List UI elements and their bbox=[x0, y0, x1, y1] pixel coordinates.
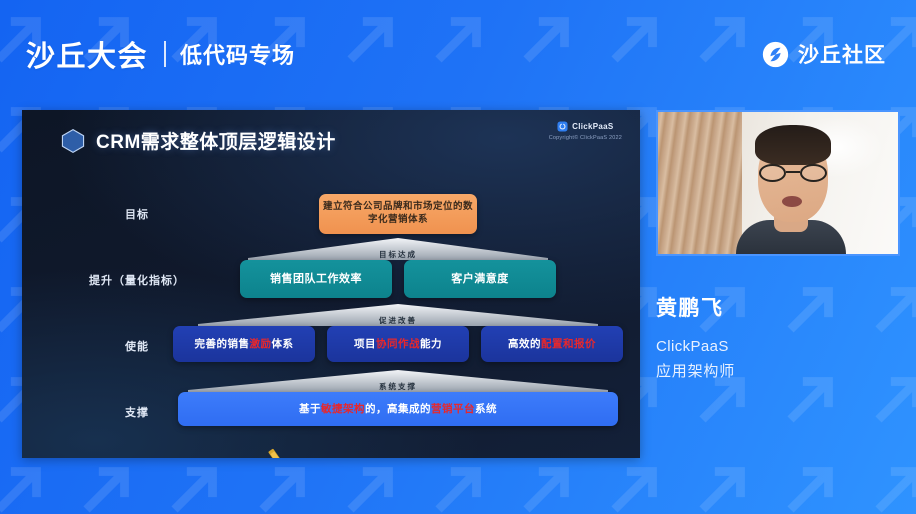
diagram-box[interactable]: 建立符合公司品牌和市场定位的数字化营销体系 bbox=[319, 194, 477, 234]
diagonal-arrow-icon bbox=[870, 456, 916, 514]
webcam-mouth bbox=[782, 196, 802, 207]
glasses-bridge bbox=[786, 171, 800, 173]
diagram-box[interactable]: 完善的销售激励体系 bbox=[173, 326, 315, 362]
webcam-hair bbox=[755, 125, 831, 165]
slide-title: CRM需求整体顶层逻辑设计 bbox=[96, 127, 336, 154]
box-highlight: 敏捷架构 bbox=[321, 402, 365, 416]
speaker-webcam[interactable] bbox=[656, 110, 900, 256]
page-background: 沙丘大会 低代码专场 沙丘社区 CRM需求整体顶层逻辑设计 bbox=[0, 0, 916, 514]
glasses-icon bbox=[758, 164, 828, 182]
diagonal-arrow-icon bbox=[78, 456, 140, 514]
pencil-highlighter-icon bbox=[265, 447, 287, 458]
diagram-row-boxes: 基于敏捷架构的，高集成的营销平台系统 bbox=[172, 392, 624, 426]
diagram-box[interactable]: 高效的配置和报价 bbox=[481, 326, 623, 362]
box-text: 的，高集成的 bbox=[365, 402, 431, 416]
diagonal-arrow-icon bbox=[606, 456, 668, 514]
diagonal-arrow-icon bbox=[254, 456, 316, 514]
community-logo[interactable]: 沙丘社区 bbox=[762, 39, 886, 69]
diagonal-arrow-icon bbox=[782, 456, 844, 514]
sandhill-s-logo-icon bbox=[762, 41, 789, 68]
box-highlight: 配置和报价 bbox=[541, 337, 596, 351]
brand-divider bbox=[164, 41, 166, 67]
slide-title-row: CRM需求整体顶层逻辑设计 bbox=[60, 127, 336, 154]
diagram-box[interactable]: 基于敏捷架构的，高集成的营销平台系统 bbox=[178, 392, 618, 426]
diagram-box[interactable]: 销售团队工作效率 bbox=[240, 260, 392, 298]
box-text: 项目 bbox=[354, 337, 376, 351]
diagonal-arrow-icon bbox=[518, 456, 580, 514]
box-text: 能力 bbox=[420, 337, 442, 351]
crm-logic-diagram: 目标建立符合公司品牌和市场定位的数字化营销体系目标达成提升（量化指标）销售团队工… bbox=[22, 172, 640, 458]
speaker-organization: ClickPaaS bbox=[656, 338, 900, 355]
hexagon-icon bbox=[60, 128, 86, 154]
event-brand: 沙丘大会 低代码专场 bbox=[26, 33, 295, 75]
webcam-blinds bbox=[658, 112, 742, 256]
box-text: 体系 bbox=[272, 337, 294, 351]
clickpaas-copyright: Copyright© ClickPaaS 2022 bbox=[549, 135, 622, 141]
diagram-row-boxes: 完善的销售激励体系项目协同作战能力高效的配置和报价 bbox=[172, 326, 624, 362]
diagonal-arrow-icon bbox=[342, 456, 404, 514]
event-subtitle: 低代码专场 bbox=[180, 38, 295, 70]
speaker-panel: 黄鹏飞 ClickPaaS 应用架构师 bbox=[656, 110, 900, 381]
diagram-connector: 促进改善 bbox=[198, 304, 598, 326]
diagonal-arrow-icon bbox=[430, 456, 492, 514]
diagonal-arrow-icon bbox=[0, 456, 52, 514]
clickpaas-watermark: ClickPaaS Copyright© ClickPaaS 2022 bbox=[549, 121, 622, 141]
diagram-connector-label: 促进改善 bbox=[198, 315, 598, 326]
box-text: 系统 bbox=[475, 402, 497, 416]
speaker-role: 应用架构师 bbox=[656, 360, 900, 381]
box-highlight: 激励 bbox=[250, 337, 272, 351]
box-text: 高效的 bbox=[508, 337, 541, 351]
clickpaas-logo-icon bbox=[557, 121, 568, 132]
diagram-row-boxes: 建立符合公司品牌和市场定位的数字化营销体系 bbox=[172, 194, 624, 234]
diagram-connector-label: 目标达成 bbox=[248, 249, 548, 260]
box-text: 基于 bbox=[299, 402, 321, 416]
event-title: 沙丘大会 bbox=[26, 33, 148, 75]
speaker-name: 黄鹏飞 bbox=[656, 292, 900, 322]
diagram-box[interactable]: 项目协同作战能力 bbox=[327, 326, 469, 362]
diagram-connector-label: 系统支撑 bbox=[188, 381, 608, 392]
diagram-row-boxes: 销售团队工作效率客户满意度 bbox=[172, 260, 624, 298]
glasses-right-lens bbox=[800, 164, 827, 182]
diagram-box[interactable]: 客户满意度 bbox=[404, 260, 556, 298]
box-highlight: 营销平台 bbox=[431, 402, 475, 416]
box-text: 完善的销售 bbox=[195, 337, 250, 351]
presentation-slide[interactable]: CRM需求整体顶层逻辑设计 ClickPaaS Copyright© Click… bbox=[22, 110, 640, 458]
diagonal-arrow-icon bbox=[694, 456, 756, 514]
page-header: 沙丘大会 低代码专场 沙丘社区 bbox=[0, 0, 916, 108]
glasses-left-lens bbox=[759, 164, 786, 182]
diagonal-arrow-icon bbox=[166, 456, 228, 514]
clickpaas-brand-label: ClickPaaS bbox=[572, 122, 613, 131]
box-highlight: 协同作战 bbox=[376, 337, 420, 351]
community-logo-label: 沙丘社区 bbox=[798, 39, 886, 69]
diagram-connector: 目标达成 bbox=[248, 238, 548, 260]
diagram-connector: 系统支撑 bbox=[188, 370, 608, 392]
